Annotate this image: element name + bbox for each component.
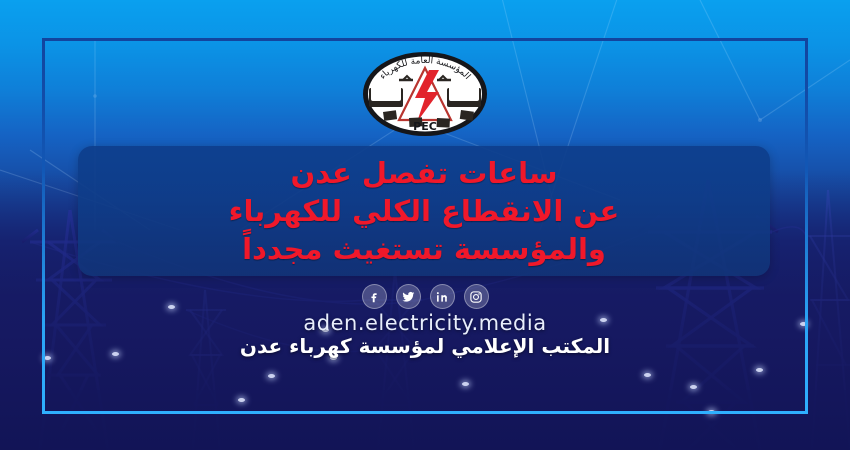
frame-border-bottom [42, 411, 808, 414]
social-link-facebook[interactable] [362, 284, 387, 309]
facebook-icon [367, 290, 381, 304]
social-link-twitter[interactable] [396, 284, 421, 309]
frame-border-top [42, 38, 808, 41]
twitter-icon [401, 289, 416, 304]
social-handle: aden.electricity.media [0, 311, 850, 335]
linkedin-icon [435, 290, 449, 304]
social-link-instagram[interactable] [464, 284, 489, 309]
headline-line-3: والمؤسسة تستغيث مجدداً [78, 230, 770, 268]
social-link-linkedin[interactable] [430, 284, 455, 309]
pec-logo: المؤسسة العامة للكهرباء PEC [347, 48, 503, 140]
headline-panel: ساعات تفصل عدن عن الانقطاع الكلي للكهربا… [78, 146, 770, 276]
footer-organization: المكتب الإعلامي لمؤسسة كهرباء عدن [0, 334, 850, 358]
headline-line-1: ساعات تفصل عدن [78, 154, 770, 192]
headline-line-2: عن الانقطاع الكلي للكهرباء [78, 192, 770, 230]
instagram-icon [469, 290, 483, 304]
poster-canvas: المؤسسة العامة للكهرباء PEC [0, 0, 850, 450]
logo-acronym: PEC [413, 120, 437, 133]
pec-logo-icon: المؤسسة العامة للكهرباء PEC [347, 48, 503, 140]
social-links [0, 284, 850, 309]
